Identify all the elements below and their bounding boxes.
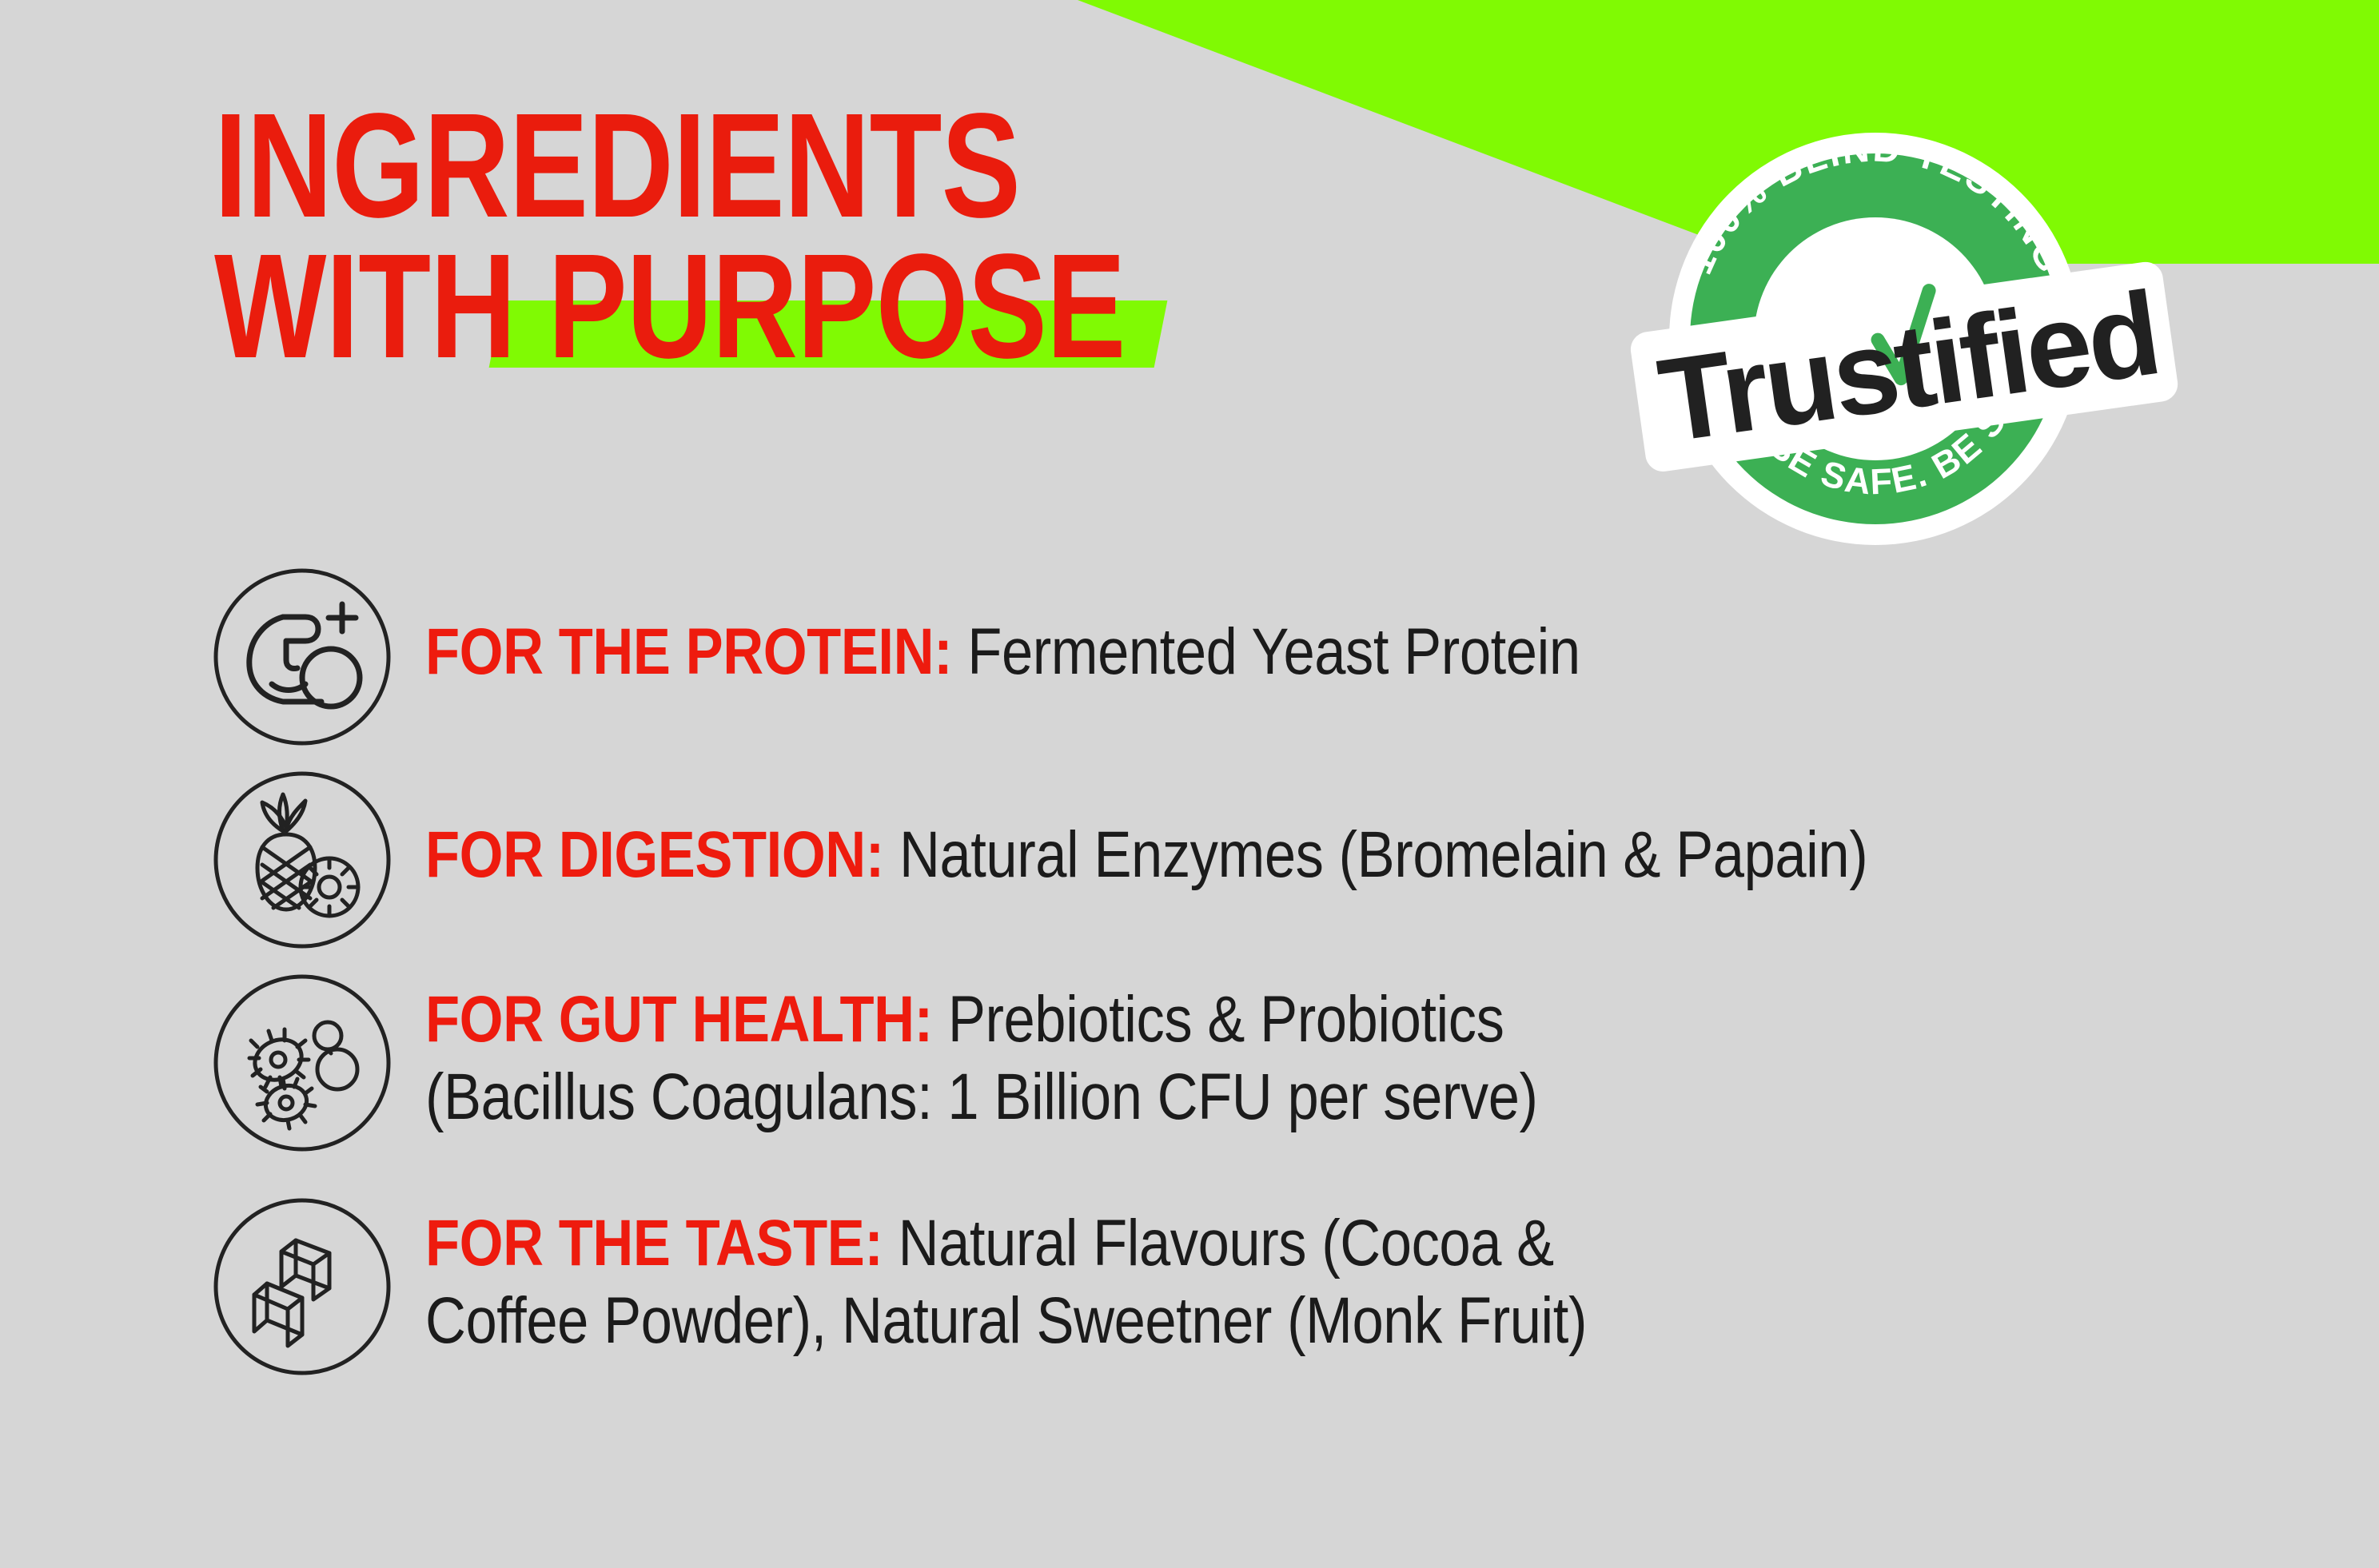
list-item-value-line-2: (Bacillus Coagulans: 1 Billion CFU per s… (425, 1059, 1959, 1136)
list-item-value: Natural Flavours (Cocoa & (883, 1207, 1553, 1279)
list-item-value-line-2: Coffee Powder), Natural Sweetner (Monk F… (425, 1283, 1959, 1360)
list-item: FOR THE PROTEIN: Fermented Yeast Protein (209, 564, 2208, 750)
list-item-label: FOR THE TASTE: (425, 1207, 883, 1279)
list-item-value: Fermented Yeast Protein (952, 615, 1580, 688)
list-item-text: FOR GUT HEALTH: Prebiotics & Probiotics … (425, 970, 1959, 1136)
list-item-label: FOR DIGESTION: (425, 818, 884, 891)
trustified-badge-graphic: 100% BLIND TESTING CHOOSE SAFE. BE SAFE … (1618, 83, 2194, 579)
page-title-line-2: WITH PURPOSE (214, 243, 1126, 371)
ingredients-list: FOR THE PROTEIN: Fermented Yeast Protein (209, 564, 2208, 1408)
page-title-line-1: INGREDIENTS (214, 102, 1126, 230)
page-title-line-2-text: WITH PURPOSE (214, 224, 1126, 389)
trustified-badge: 100% BLIND TESTING CHOOSE SAFE. BE SAFE … (1618, 83, 2194, 579)
list-item-label: FOR GUT HEALTH: (425, 983, 933, 1056)
list-item-text: FOR THE PROTEIN: Fermented Yeast Protein (425, 564, 1959, 691)
list-item: FOR THE TASTE: Natural Flavours (Cocoa &… (209, 1194, 2208, 1379)
list-item-text: FOR DIGESTION: Natural Enzymes (Bromelai… (425, 767, 1959, 894)
pineapple-icon (209, 767, 395, 953)
list-item-value: Natural Enzymes (Bromelain & Papain) (884, 818, 1867, 891)
bacteria-microbe-icon (209, 970, 395, 1156)
list-item: FOR DIGESTION: Natural Enzymes (Bromelai… (209, 767, 2208, 953)
chocolate-bar-icon (209, 1194, 395, 1379)
list-item-label: FOR THE PROTEIN: (425, 615, 952, 688)
muscle-arm-plus-icon (209, 564, 395, 750)
list-item-value: Prebiotics & Probiotics (933, 983, 1504, 1056)
page-title: INGREDIENTS WITH PURPOSE (214, 102, 1353, 371)
list-item: FOR GUT HEALTH: Prebiotics & Probiotics … (209, 970, 2208, 1156)
list-item-text: FOR THE TASTE: Natural Flavours (Cocoa &… (425, 1194, 1959, 1360)
